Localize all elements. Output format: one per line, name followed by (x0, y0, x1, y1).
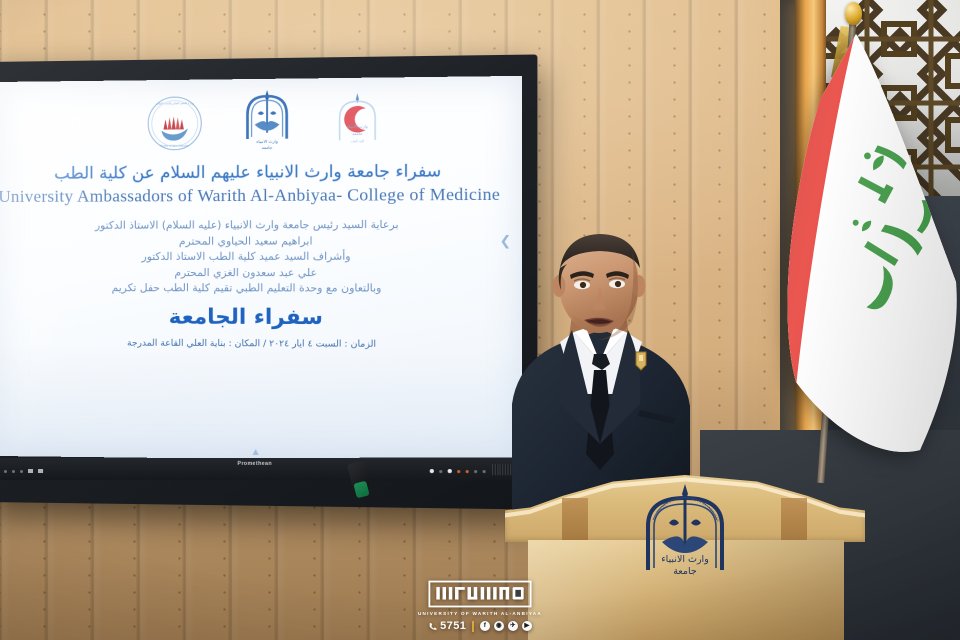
slide-footer-datetime: الزمان : السبت ٤ ايار ٢٠٢٤ / المكان : بن… (117, 338, 376, 349)
display-screen[interactable]: وزارة التعليم العالي والبحث العلمي Minis… (0, 76, 522, 462)
bezel-dot-6[interactable] (483, 470, 486, 473)
svg-text:Ministry of Higher Education: Ministry of Higher Education (160, 145, 190, 148)
svg-text:كلية الطب: كلية الطب (351, 139, 365, 143)
podium-stripe-left (562, 498, 588, 542)
watermark-subtitle: UNIVERSITY OF WARITH AL-ANBIYAA (418, 611, 542, 616)
bezel-right-controls[interactable] (430, 469, 486, 473)
slide-body-text: برعاية السيد رئيس جامعة وارث الانبياء (ع… (95, 218, 399, 297)
youtube-icon[interactable]: ▶ (522, 621, 532, 631)
slide-body-line-3: وأشراف السيد عميد كلية الطب الاستاذ الدك… (95, 250, 399, 266)
bezel-indicator-led-1 (457, 470, 460, 473)
bezel-dot-1[interactable] (4, 470, 7, 473)
telegram-icon[interactable]: ✈ (508, 621, 518, 631)
slide-body-line-2: ابراهيم سعيد الحياوي المحترم (95, 234, 399, 250)
podium-university-emblem: UNIVERSITY OF WARITH AL-ANBIYAA وارث الا… (636, 482, 734, 578)
watermark-phone-number: 5751 (440, 620, 466, 632)
slide-title-english: University Ambassadors of Warith Al-Anbi… (0, 184, 500, 207)
podium-stripe-right (781, 498, 807, 542)
bezel-power-button-icon[interactable] (430, 469, 434, 473)
slide-body-line-5: وبالتعاون مع وحدة التعليم الطبي تقيم كلي… (95, 281, 399, 297)
phone-icon (428, 622, 437, 631)
slide-highlight-title: سفراء الجامعة (169, 304, 323, 329)
bezel-dot-2[interactable] (12, 470, 15, 473)
svg-text:وزارة التعليم العالي والبحث ال: وزارة التعليم العالي والبحث العلمي (156, 102, 195, 105)
slide-body-line-1: برعاية السيد رئيس جامعة وارث الانبياء (ع… (95, 218, 399, 235)
channel-watermark: UNIVERSITY OF WARITH AL-ANBIYAA 5751 f ◉… (0, 580, 960, 632)
svg-text:وارث الانبياء: وارث الانبياء (661, 554, 709, 565)
bezel-dot-4[interactable] (439, 470, 442, 473)
slide-title-arabic: سفراء جامعة وارث الانبياء عليهم السلام ع… (54, 161, 441, 183)
ministry-of-higher-education-logo: وزارة التعليم العالي والبحث العلمي Minis… (146, 95, 203, 157)
bezel-dot-5[interactable] (474, 470, 477, 473)
slide-body-line-4: علي عبد سعدون الغزي المحترم (95, 265, 399, 281)
slide-nav-arrow-up-icon[interactable]: ▲ (251, 447, 261, 458)
svg-text:جامعة: جامعة (673, 566, 697, 577)
interactive-flat-panel-display[interactable]: وزارة التعليم العالي والبحث العلمي Minis… (0, 62, 520, 502)
svg-text:جامعة: جامعة (352, 131, 363, 136)
bezel-square-button-1[interactable] (28, 469, 33, 473)
slide-logo-row: وزارة التعليم العالي والبحث العلمي Minis… (110, 92, 384, 157)
bezel-square-button-2[interactable] (38, 469, 43, 473)
svg-text:وارث الانبياء: وارث الانبياء (347, 124, 368, 129)
instagram-icon[interactable]: ◉ (494, 621, 504, 631)
watermark-divider (472, 621, 474, 632)
university-watermark-logo (428, 580, 532, 608)
svg-text:جامعة: جامعة (262, 145, 273, 150)
college-of-medicine-crescent-logo: وارث الانبياء جامعة كلية الطب (331, 91, 383, 156)
watermark-social-icons[interactable]: f ◉ ✈ ▶ (480, 621, 532, 631)
svg-text:وارث الانبياء: وارث الانبياء (256, 139, 278, 144)
bezel-indicator-led-2 (466, 470, 469, 473)
presentation-slide: وزارة التعليم العالي والبحث العلمي Minis… (0, 76, 522, 462)
university-warith-al-anbiyaa-logo: وارث الانبياء جامعة (238, 88, 296, 157)
display-bottom-bezel: Promethean (0, 458, 522, 481)
flag-pole-finial (845, 2, 862, 25)
photo-scene: وزارة التعليم العالي والبحث العلمي Minis… (0, 0, 960, 640)
bezel-dot-3[interactable] (20, 470, 23, 473)
bezel-home-button-icon[interactable] (448, 469, 452, 473)
facebook-icon[interactable]: f (480, 621, 490, 631)
bezel-left-controls[interactable] (4, 469, 43, 473)
promethean-brand-label: Promethean (237, 461, 272, 467)
watermark-phone: 5751 (428, 620, 466, 632)
watermark-contact-row: 5751 f ◉ ✈ ▶ (428, 620, 532, 632)
